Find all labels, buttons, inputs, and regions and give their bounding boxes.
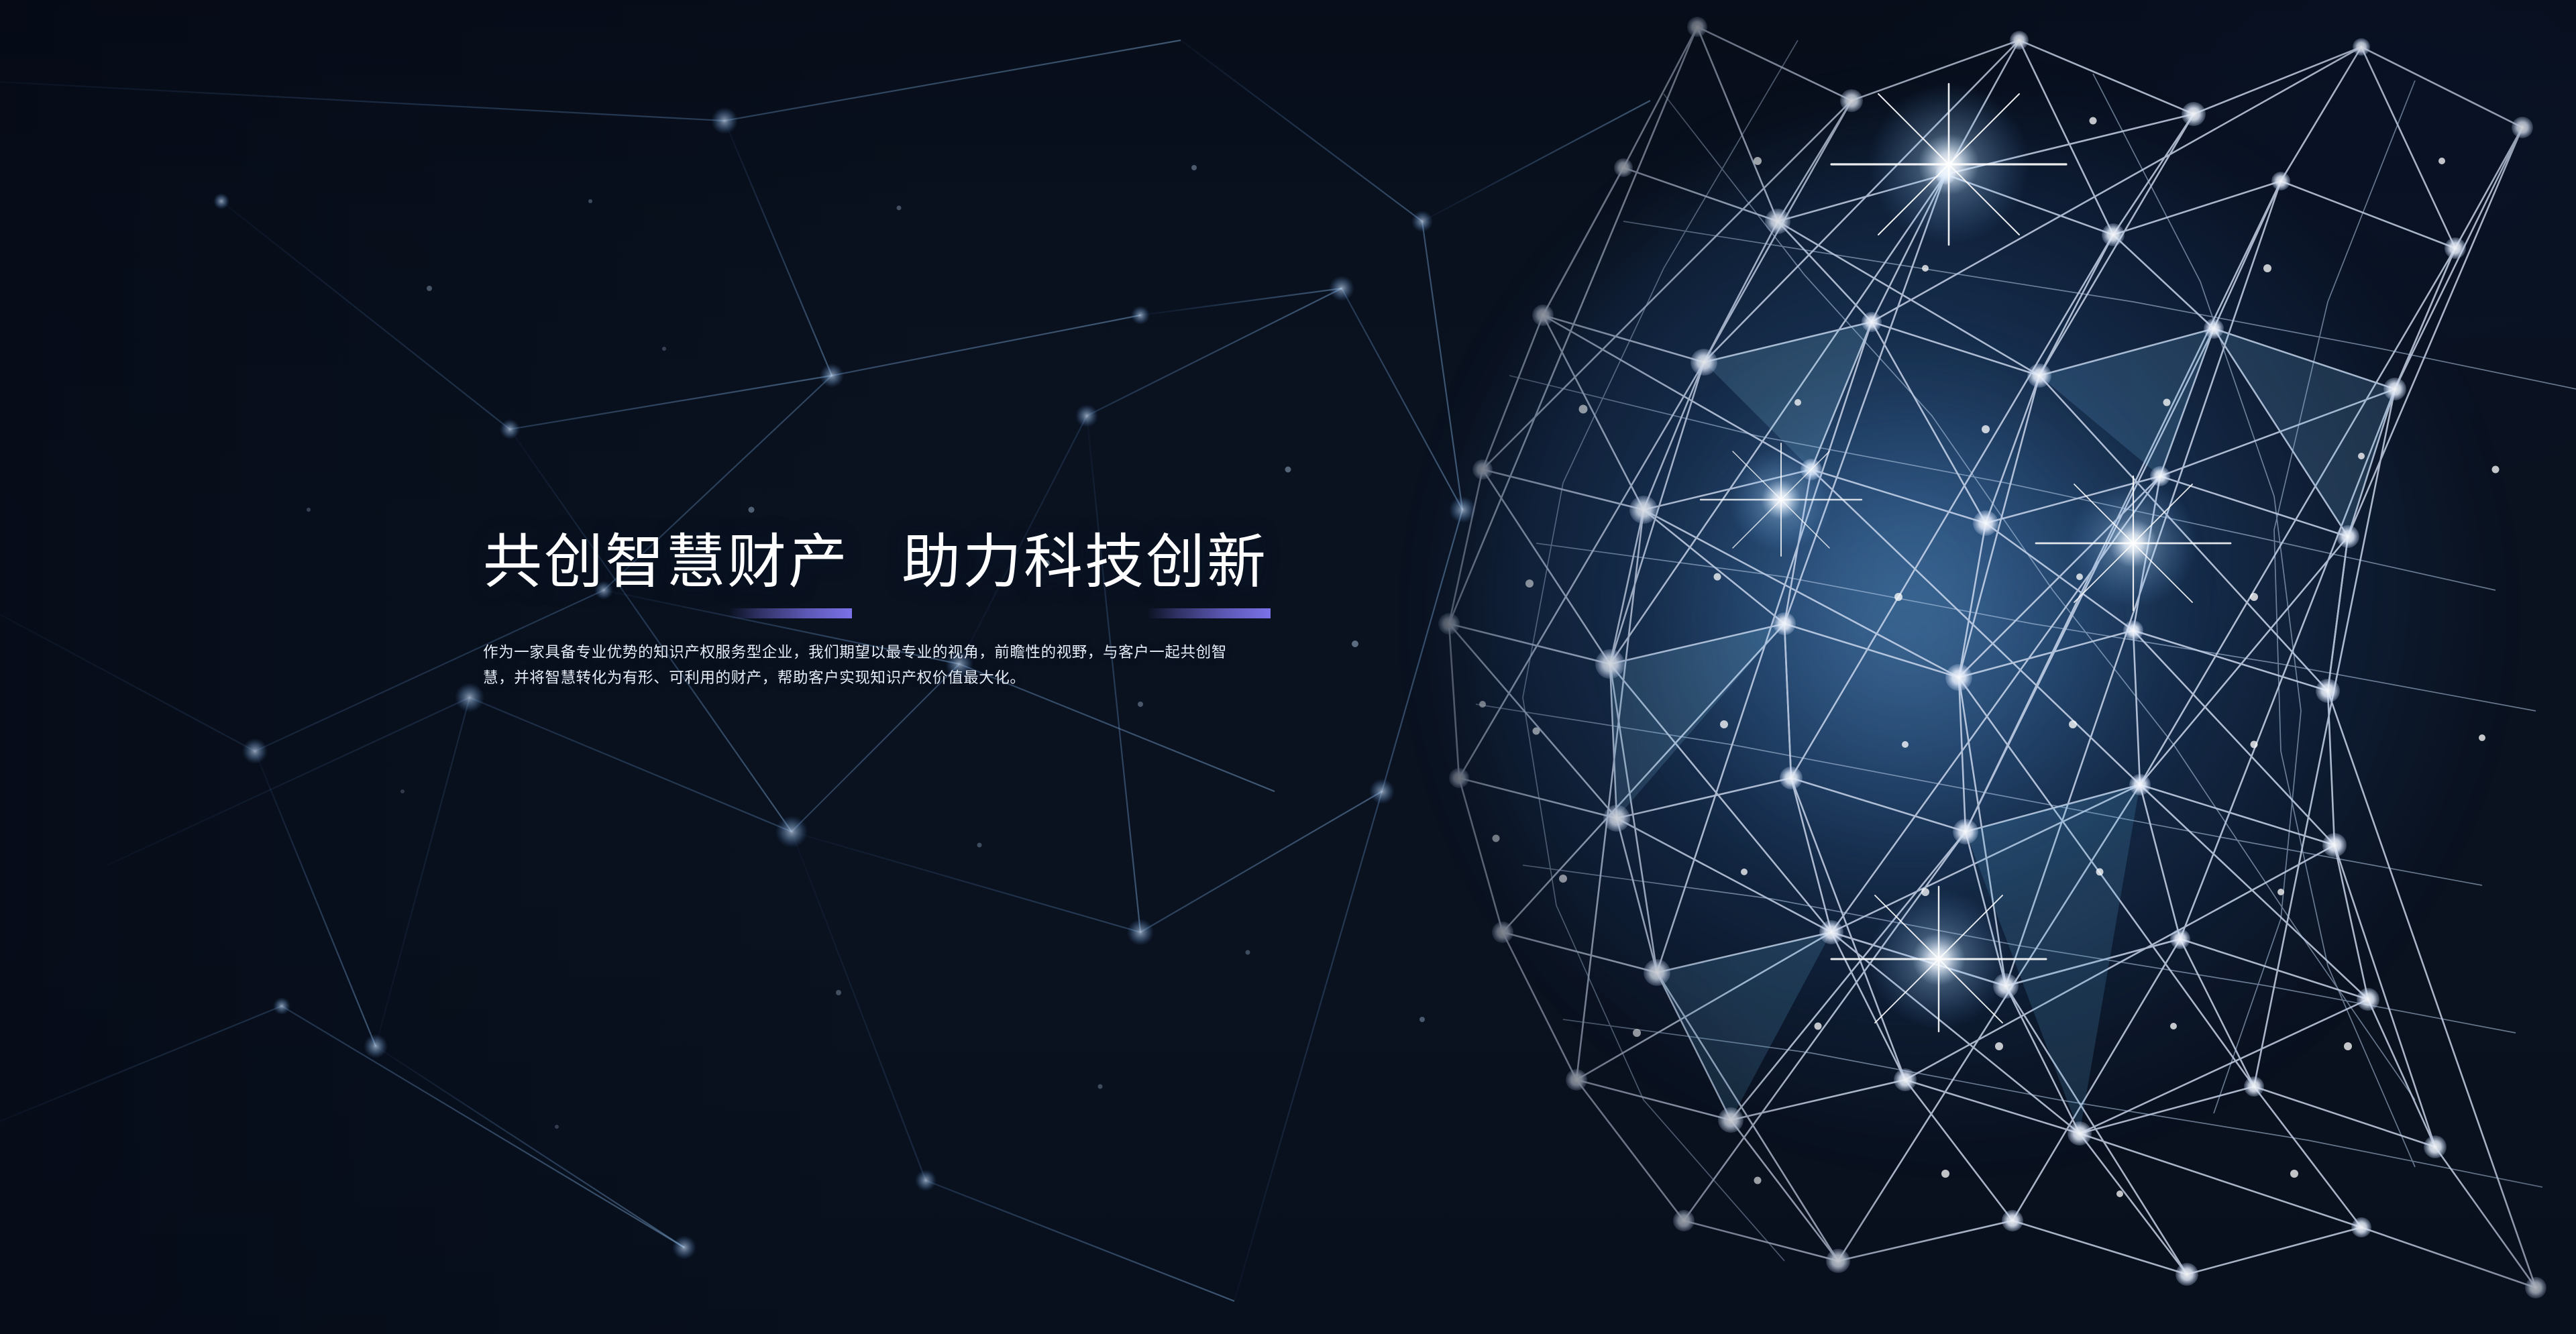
headline-accent-two: 创新 — [1146, 531, 1268, 593]
hero-banner: 共创智慧 财产 助力科技 创新 作为一家具备专业优势的知识产权服务型企业，我们期… — [0, 0, 2576, 1334]
headline: 共创智慧 财产 助力科技 创新 — [483, 531, 1436, 593]
hero-text-block: 共创智慧 财产 助力科技 创新 作为一家具备专业优势的知识产权服务型企业，我们期… — [483, 531, 1436, 691]
body-copy-text: 作为一家具备专业优势的知识产权服务型企业，我们期望以最专业的视角，前瞻性的视野，… — [483, 640, 1254, 691]
headline-segment-two: 助力科技 — [902, 531, 1146, 593]
headline-segment-one: 共创智慧 — [483, 531, 727, 593]
body-copy: 作为一家具备专业优势的知识产权服务型企业，我们期望以最专业的视角，前瞻性的视野，… — [483, 640, 1254, 691]
headline-accent-one: 财产 — [727, 531, 849, 593]
